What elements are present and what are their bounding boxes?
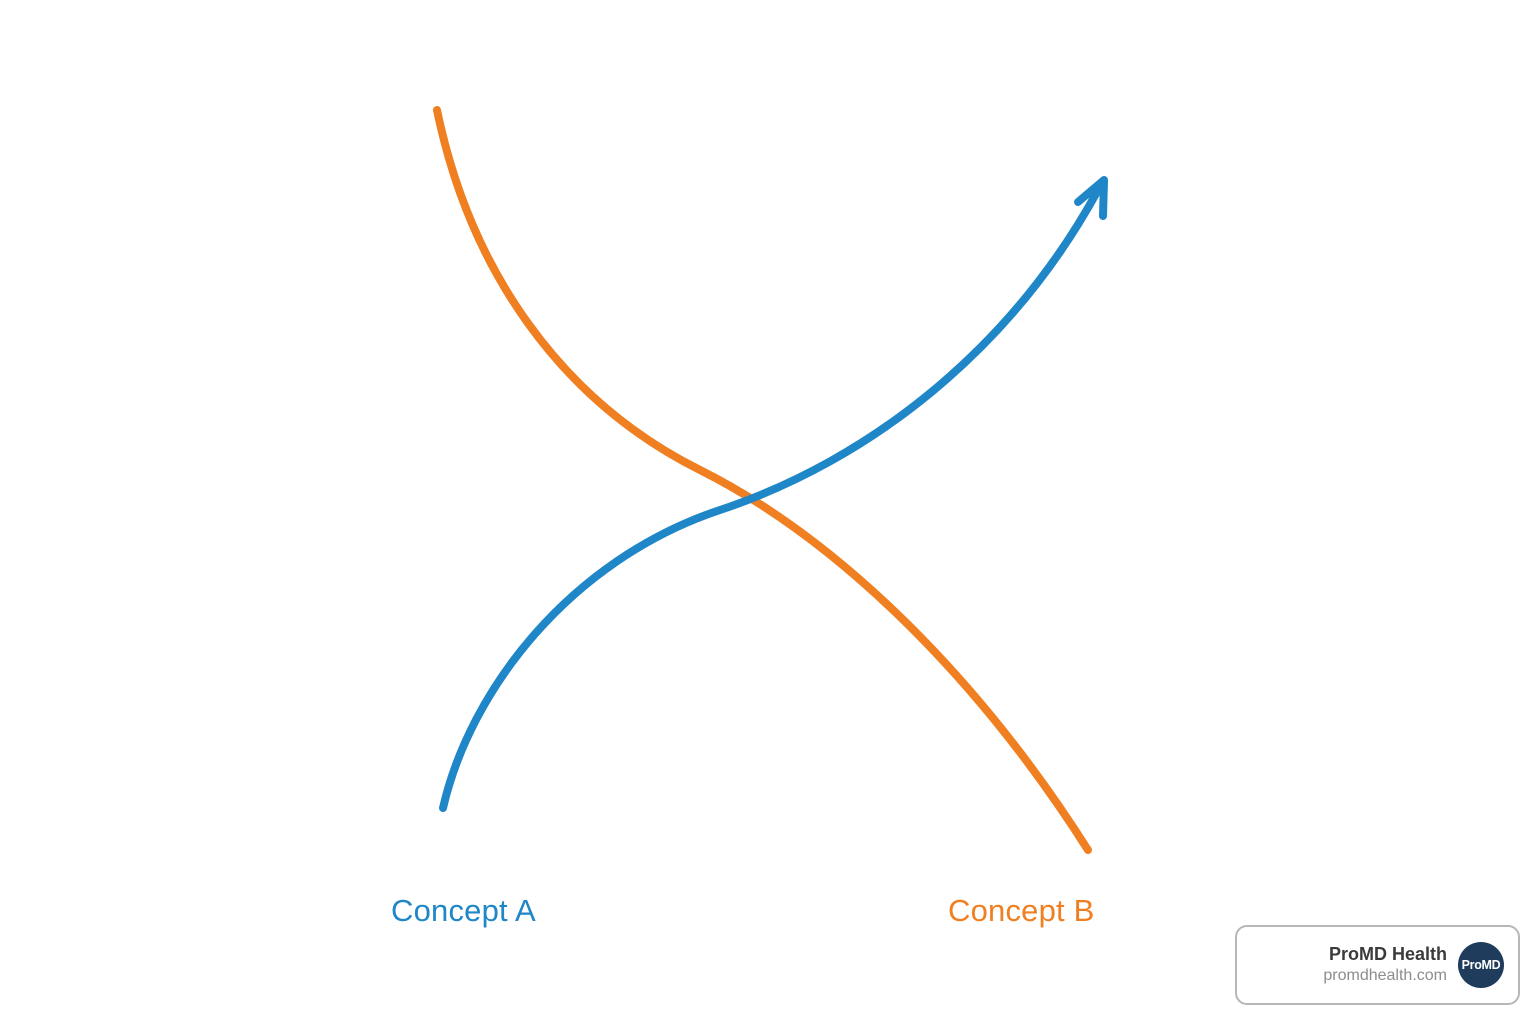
curve-concept-a (443, 192, 1097, 808)
diagram-canvas: Concept A Concept B ProMD Health promdhe… (0, 0, 1536, 1024)
brand-logo-icon: ProMD (1458, 942, 1504, 988)
label-concept-a: Concept A (391, 893, 536, 929)
brand-badge[interactable]: ProMD Health promdhealth.com ProMD (1235, 925, 1520, 1005)
label-concept-b: Concept B (948, 893, 1095, 929)
brand-logo-text: ProMD (1462, 958, 1501, 972)
brand-name: ProMD Health (1329, 944, 1447, 966)
curve-concept-b (437, 110, 1088, 850)
crossing-curves-chart (0, 0, 1536, 1024)
brand-url[interactable]: promdhealth.com (1323, 966, 1447, 986)
brand-text-block: ProMD Health promdhealth.com (1323, 944, 1447, 986)
